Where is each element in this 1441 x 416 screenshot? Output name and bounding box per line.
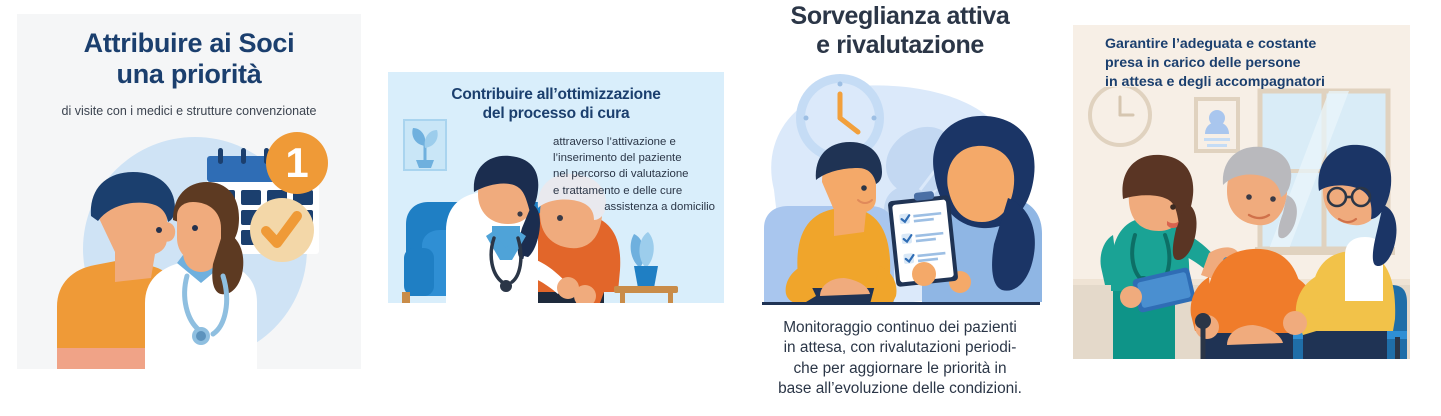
- panel1-subtitle: di visite con i medici e strutture conve…: [17, 104, 361, 118]
- check-badge-icon: [250, 198, 314, 262]
- panel3-body-line-4: base all’evoluzione delle condizioni.: [748, 379, 1052, 399]
- panel1-title-line1: Attribuire ai Soci: [17, 28, 361, 59]
- panel2-body-line-5: assistenza a domicilio: [553, 199, 715, 215]
- framed-plant-icon: [404, 120, 446, 170]
- panel-garantire-presa-in-carico: Garantire l’adeguata e costante presa in…: [1073, 25, 1410, 359]
- panel2-body: attraverso l’attivazione e l’inserimento…: [553, 134, 715, 215]
- panel2-body-line-3: nel percorso di valutazione: [553, 166, 715, 182]
- panel4-title-line-1: Garantire l’adeguata e costante: [1105, 35, 1405, 54]
- panel3-title: Sorveglianza attiva e rivalutazione: [740, 2, 1060, 60]
- panel2-title-line2: del processo di cura: [388, 105, 724, 124]
- panel2-body-line-2: l’inserimento del paziente: [553, 150, 715, 166]
- panel-ottimizzazione-cura: Contribuire all’ottimizzazione del proce…: [388, 72, 724, 303]
- panel4-title: Garantire l’adeguata e costante presa in…: [1105, 35, 1405, 92]
- panel1-title-line2: una priorità: [17, 59, 361, 90]
- panel-attribuire-priorita: Attribuire ai Soci una priorità di visit…: [17, 14, 361, 369]
- panel-sorveglianza-attiva: Sorveglianza attiva e rivalutazione: [740, 0, 1060, 416]
- panel3-body-line-1: Monitoraggio continuo dei pazienti: [748, 318, 1052, 338]
- panel3-body-line-3: che per aggiornare le priorità in: [748, 359, 1052, 379]
- panel1-illustration: 1: [17, 124, 361, 369]
- panel3-divider-rule: [762, 302, 1040, 305]
- badge-number: 1: [285, 139, 308, 186]
- panel2-title-line1: Contribuire all’ottimizzazione: [388, 86, 724, 105]
- panel1-title: Attribuire ai Soci una priorità: [17, 28, 361, 90]
- panel3-body: Monitoraggio continuo dei pazienti in at…: [748, 318, 1052, 399]
- panel2-body-line-1: attraverso l’attivazione e: [553, 134, 715, 150]
- panel4-title-line-2: presa in carico delle persone: [1105, 54, 1405, 73]
- panel3-illustration: [752, 70, 1048, 305]
- panel2-title: Contribuire all’ottimizzazione del proce…: [388, 86, 724, 123]
- panel2-body-line-4: e trattamento e delle cure: [553, 183, 715, 199]
- panel3-title-line1: Sorveglianza attiva: [740, 2, 1060, 31]
- number-badge-icon: 1: [266, 132, 328, 194]
- side-table-icon: [614, 286, 678, 303]
- panel3-body-line-2: in attesa, con rivalutazioni periodi-: [748, 338, 1052, 358]
- panel4-illustration: [1073, 87, 1410, 359]
- panel3-title-line2: e rivalutazione: [740, 31, 1060, 60]
- panel4-title-line-3: in attesa e degli accompagnatori: [1105, 73, 1405, 92]
- framed-portrait-icon: [1196, 99, 1238, 151]
- potted-plant-icon: [631, 232, 658, 288]
